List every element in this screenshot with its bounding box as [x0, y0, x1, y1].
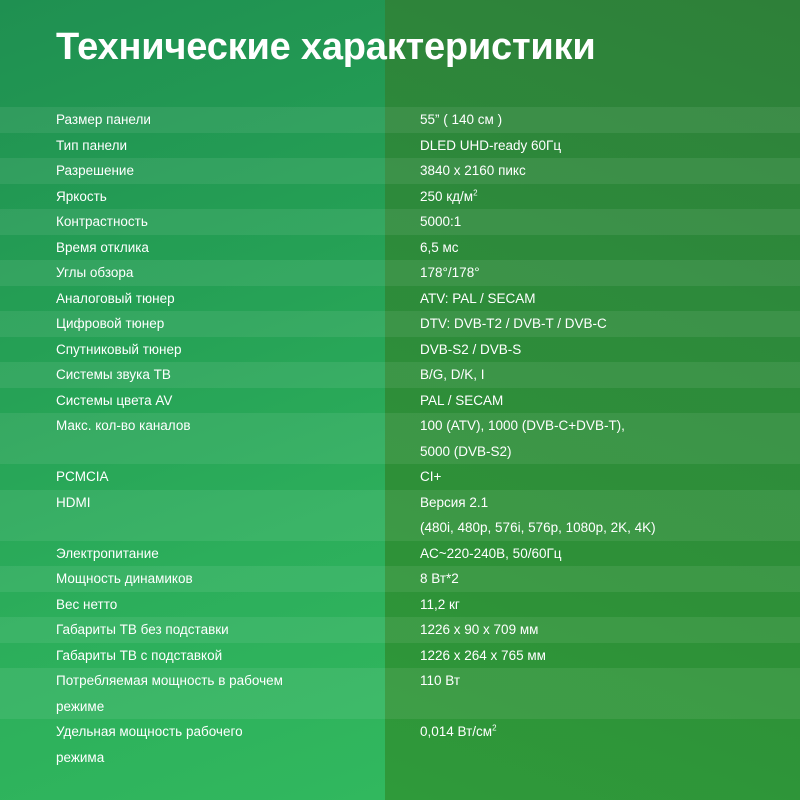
spec-label: Аналоговый тюнер	[56, 286, 420, 312]
table-row: PCMCIACI+	[0, 464, 800, 490]
spec-value: 8 Вт*2	[420, 566, 800, 592]
table-row: Системы цвета AVPAL / SECAM	[0, 388, 800, 414]
table-row: Цифровой тюнерDTV: DVB-T2 / DVB-T / DVB-…	[0, 311, 800, 337]
table-row: Удельная мощность рабочего режима0,014 В…	[0, 719, 800, 770]
table-row: Аналоговый тюнерATV: PAL / SECAM	[0, 286, 800, 312]
spec-label: Контрастность	[56, 209, 420, 235]
spec-value: 100 (ATV), 1000 (DVB-C+DVB-T), 5000 (DVB…	[420, 413, 800, 464]
spec-value: 178°/178°	[420, 260, 800, 286]
spec-label: Системы звука ТВ	[56, 362, 420, 388]
spec-value: 11,2 кг	[420, 592, 800, 618]
spec-label: PCMCIA	[56, 464, 420, 490]
spec-value: B/G, D/K, I	[420, 362, 800, 388]
spec-label: Потребляемая мощность в рабочем режиме	[56, 668, 420, 719]
spec-label: Время отклика	[56, 235, 420, 261]
spec-value: PAL / SECAM	[420, 388, 800, 414]
spec-value: DLED UHD-ready 60Гц	[420, 133, 800, 159]
table-row: Вес нетто11,2 кг	[0, 592, 800, 618]
table-row: Спутниковый тюнерDVB-S2 / DVB-S	[0, 337, 800, 363]
table-row: Разрешение3840 x 2160 пикс	[0, 158, 800, 184]
spec-value: CI+	[420, 464, 800, 490]
spec-value: 5000:1	[420, 209, 800, 235]
table-row: ЭлектропитаниеAC~220-240В, 50/60Гц	[0, 541, 800, 567]
unit-superscript: 2	[473, 188, 477, 197]
spec-label: Спутниковый тюнер	[56, 337, 420, 363]
spec-label: Размер панели	[56, 107, 420, 133]
spec-value: 3840 x 2160 пикс	[420, 158, 800, 184]
table-row: Габариты ТВ без подставки1226 x 90 x 709…	[0, 617, 800, 643]
spec-value: 1226 x 264 x 765 мм	[420, 643, 800, 669]
table-row: Потребляемая мощность в рабочем режиме11…	[0, 668, 800, 719]
table-row: Тип панелиDLED UHD-ready 60Гц	[0, 133, 800, 159]
table-row: Габариты ТВ с подставкой1226 x 264 x 765…	[0, 643, 800, 669]
table-row: Яркость250 кд/м2	[0, 184, 800, 210]
spec-value: DVB-S2 / DVB-S	[420, 337, 800, 363]
specifications-table: Размер панели55” ( 140 см )Тип панелиDLE…	[0, 107, 800, 770]
spec-label: Углы обзора	[56, 260, 420, 286]
page-title: Технические характеристики	[56, 26, 596, 69]
table-row: Время отклика6,5 мс	[0, 235, 800, 261]
spec-label: Габариты ТВ с подставкой	[56, 643, 420, 669]
table-row: HDMIВерсия 2.1 (480i, 480p, 576i, 576p, …	[0, 490, 800, 541]
spec-sheet-page: Технические характеристики Размер панели…	[0, 0, 800, 800]
spec-value: 6,5 мс	[420, 235, 800, 261]
table-row: Макс. кол-во каналов100 (ATV), 1000 (DVB…	[0, 413, 800, 464]
spec-label: HDMI	[56, 490, 420, 516]
table-row: Системы звука ТВB/G, D/K, I	[0, 362, 800, 388]
table-row: Углы обзора178°/178°	[0, 260, 800, 286]
spec-label: Яркость	[56, 184, 420, 210]
spec-value: 55” ( 140 см )	[420, 107, 800, 133]
spec-label: Электропитание	[56, 541, 420, 567]
table-row: Мощность динамиков8 Вт*2	[0, 566, 800, 592]
unit-superscript: 2	[492, 724, 496, 733]
spec-value: Версия 2.1 (480i, 480p, 576i, 576p, 1080…	[420, 490, 800, 541]
spec-value: ATV: PAL / SECAM	[420, 286, 800, 312]
spec-value: DTV: DVB-T2 / DVB-T / DVB-C	[420, 311, 800, 337]
spec-value: 0,014 Вт/см2	[420, 719, 800, 745]
spec-label: Цифровой тюнер	[56, 311, 420, 337]
spec-label: Удельная мощность рабочего режима	[56, 719, 420, 770]
table-row: Контрастность5000:1	[0, 209, 800, 235]
spec-label: Системы цвета AV	[56, 388, 420, 414]
spec-value: AC~220-240В, 50/60Гц	[420, 541, 800, 567]
spec-value: 250 кд/м2	[420, 184, 800, 210]
spec-label: Габариты ТВ без подставки	[56, 617, 420, 643]
spec-label: Вес нетто	[56, 592, 420, 618]
spec-value: 1226 x 90 x 709 мм	[420, 617, 800, 643]
spec-label: Мощность динамиков	[56, 566, 420, 592]
spec-label: Макс. кол-во каналов	[56, 413, 420, 439]
spec-label: Тип панели	[56, 133, 420, 159]
spec-label: Разрешение	[56, 158, 420, 184]
spec-value: 110 Вт	[420, 668, 800, 694]
table-row: Размер панели55” ( 140 см )	[0, 107, 800, 133]
